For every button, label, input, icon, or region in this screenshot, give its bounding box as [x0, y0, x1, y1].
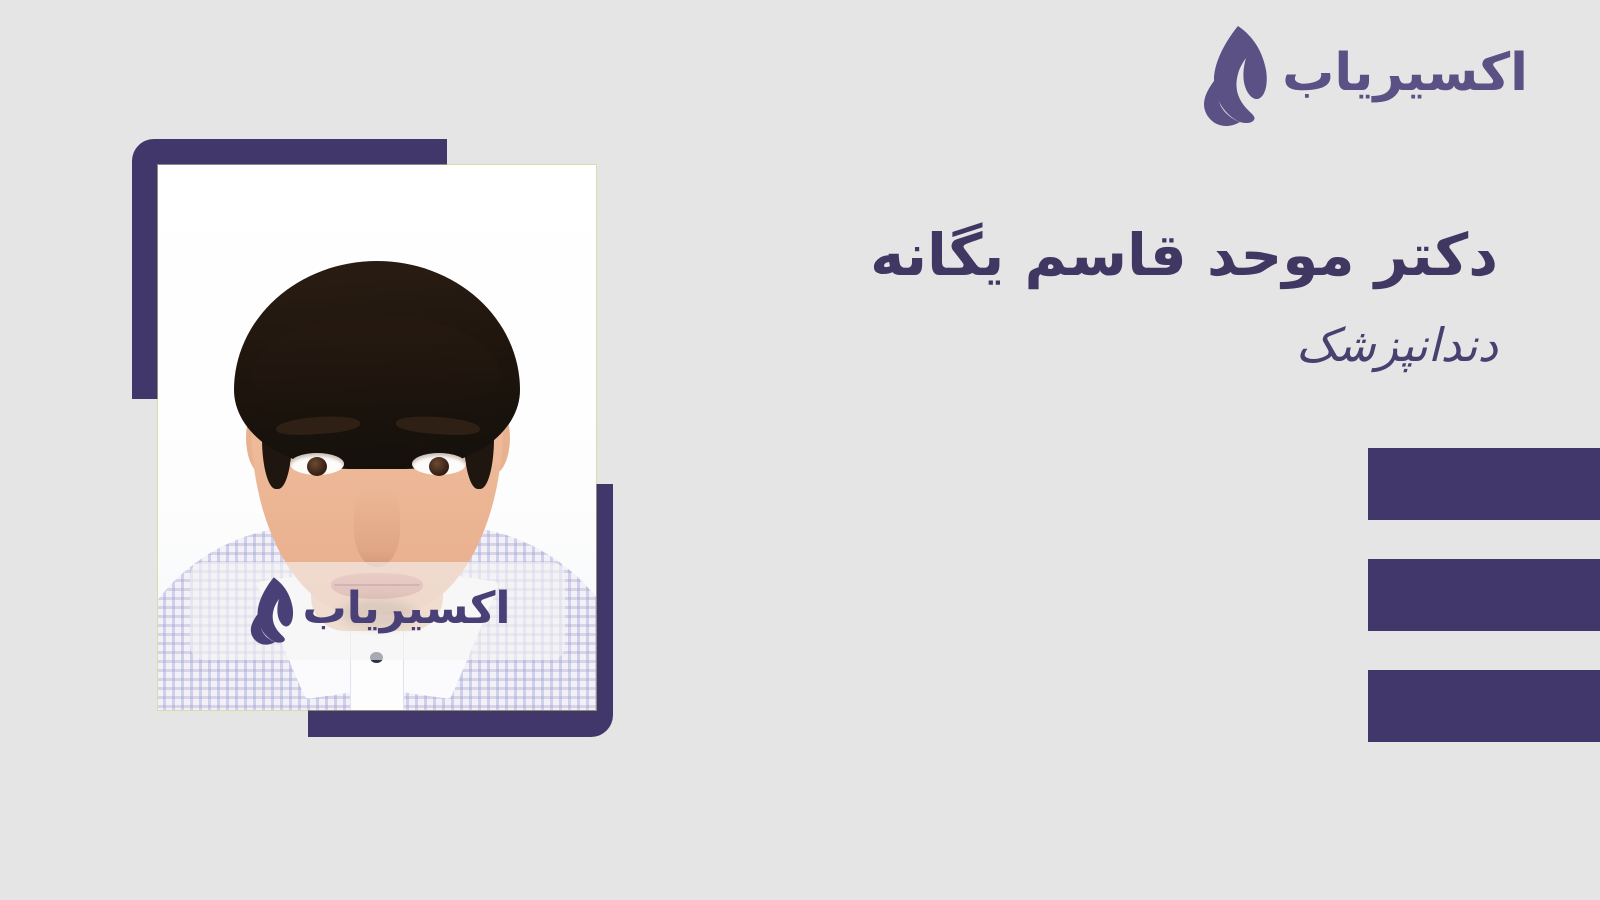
decorative-bars [1368, 448, 1600, 742]
watermark-wordmark: اکسیریاب [302, 587, 510, 635]
photo-watermark-badge: اکسیریاب [190, 562, 565, 660]
portrait-eye-left [290, 453, 344, 475]
profile-card-canvas: اکسیریاب MED [0, 0, 1600, 900]
doctor-name: دکتر موحد قاسم یگانه [870, 222, 1498, 289]
photo-composition: MED [132, 139, 616, 739]
portrait-eye-right [412, 453, 466, 475]
watermark-flame-drop-icon [244, 576, 294, 646]
portrait-iris-left [307, 457, 327, 476]
brand-wordmark: اکسیریاب [1282, 47, 1528, 105]
flame-drop-icon [1194, 24, 1268, 128]
doctor-specialty: دندانپزشک [1296, 318, 1498, 373]
portrait-iris-right [429, 457, 449, 476]
decorative-bar [1368, 670, 1600, 742]
decorative-bar [1368, 559, 1600, 631]
doctor-photo[interactable]: MED [158, 165, 596, 710]
brand-logo[interactable]: اکسیریاب [1194, 22, 1528, 130]
decorative-bar [1368, 448, 1600, 520]
portrait-nose [354, 489, 400, 567]
